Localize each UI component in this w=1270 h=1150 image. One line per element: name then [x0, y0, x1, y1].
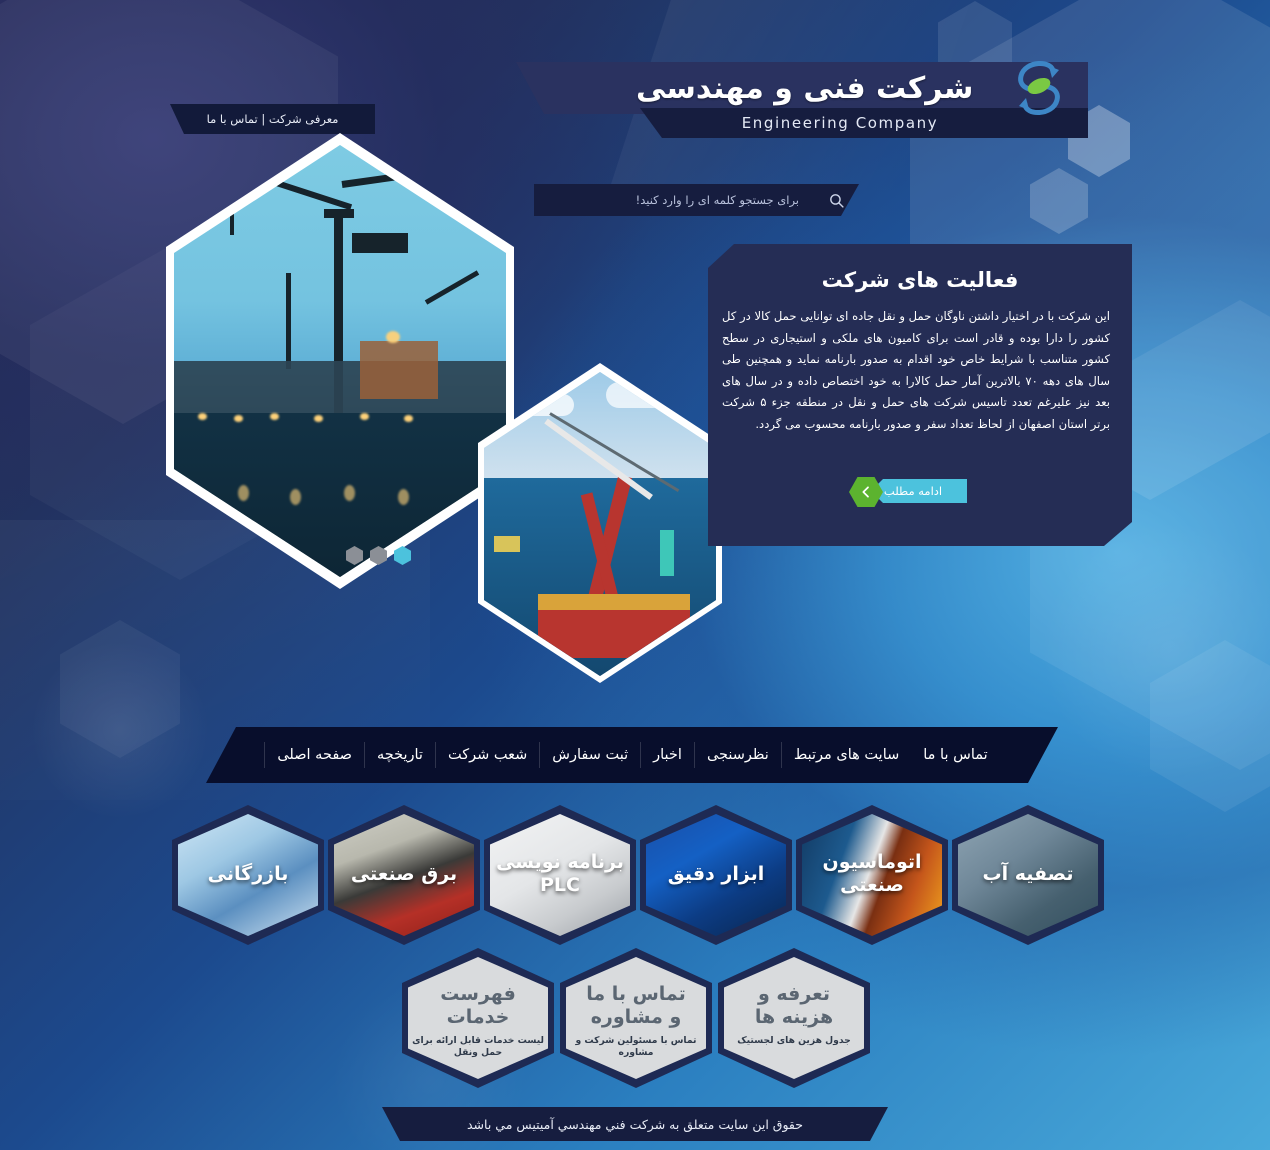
- page-title: شرکت فنی و مهندسی: [636, 68, 1036, 110]
- nav-item-history[interactable]: تاریخچه: [364, 742, 435, 768]
- service-tile-water-treatment[interactable]: تصفیه آب: [952, 805, 1104, 945]
- page-root: معرفی شرکت | تماس با ما شرکت فنی و مهندس…: [0, 0, 1270, 1150]
- background-hexagon-decor: [1030, 168, 1088, 234]
- nav-item-contact-us[interactable]: تماس با ما: [911, 742, 999, 768]
- brand-subtitle: Engineering Company: [640, 114, 1040, 132]
- nav-item-related-sites[interactable]: سایت های مرتبط: [781, 742, 911, 768]
- service-tile-image: [802, 814, 942, 936]
- activities-description: این شرکت با در اختیار داشتن ناوگان حمل و…: [722, 306, 1110, 435]
- service-tile-tariffs-and-costs[interactable]: تعرفه و هزینه ها جدول هزین های لجستیک: [718, 948, 870, 1088]
- nav-item-branches[interactable]: شعب شرکت: [435, 742, 539, 768]
- service-tile-image: [566, 957, 706, 1079]
- service-tile-image: [958, 814, 1098, 936]
- nav-item-place-order[interactable]: ثبت سفارش: [539, 742, 640, 768]
- top-utility-bar[interactable]: معرفی شرکت | تماس با ما: [170, 104, 375, 134]
- main-navigation[interactable]: صفحه اصلی تاریخچه شعب شرکت ثبت سفارش اخب…: [206, 727, 1058, 783]
- service-tile-industrial-electricity[interactable]: برق صنعتی: [328, 805, 480, 945]
- service-tile-industrial-automation[interactable]: اتوماسیون صنعتی: [796, 805, 948, 945]
- background-glow-decor: [1040, 520, 1270, 780]
- top-utility-links[interactable]: معرفی شرکت | تماس با ما: [207, 112, 339, 126]
- service-tile-image: [408, 957, 548, 1079]
- service-tile-image: [646, 814, 786, 936]
- nav-item-news[interactable]: اخبار: [640, 742, 694, 768]
- slider-dot-3[interactable]: [346, 546, 363, 565]
- search-bar[interactable]: [534, 184, 859, 216]
- service-tile-plc-programming[interactable]: برنامه نویسی PLC: [484, 805, 636, 945]
- nav-item-home[interactable]: صفحه اصلی: [264, 742, 364, 768]
- service-tile-image: [178, 814, 318, 936]
- footer-copyright: حقوق این سایت متعلق به شرکت فني مهندسي آ…: [382, 1107, 888, 1141]
- footer-text: حقوق این سایت متعلق به شرکت فني مهندسي آ…: [467, 1117, 803, 1132]
- search-input[interactable]: [534, 184, 813, 216]
- swirl-arrows-logo-icon: [1003, 52, 1075, 124]
- service-tile-image: [490, 814, 630, 936]
- service-tile-commerce[interactable]: بازرگانی: [172, 805, 324, 945]
- service-tile-image: [334, 814, 474, 936]
- service-tile-instrumentation[interactable]: ابزار دقیق: [640, 805, 792, 945]
- service-tile-image: [724, 957, 864, 1079]
- activities-title: فعالیت های شرکت: [708, 268, 1132, 292]
- nav-item-survey[interactable]: نظرسنجی: [694, 742, 781, 768]
- slider-dot-2[interactable]: [370, 546, 387, 565]
- service-tile-contact-and-consulting[interactable]: تماس با ما و مشاوره تماس با مسئولین شرکت…: [560, 948, 712, 1088]
- search-icon[interactable]: [813, 184, 859, 216]
- read-more-label: ادامه مطلب: [873, 479, 953, 503]
- slider-dot-1[interactable]: [394, 546, 411, 565]
- read-more-button[interactable]: ادامه مطلب: [849, 477, 967, 507]
- hero-slider-pagination[interactable]: [346, 546, 411, 565]
